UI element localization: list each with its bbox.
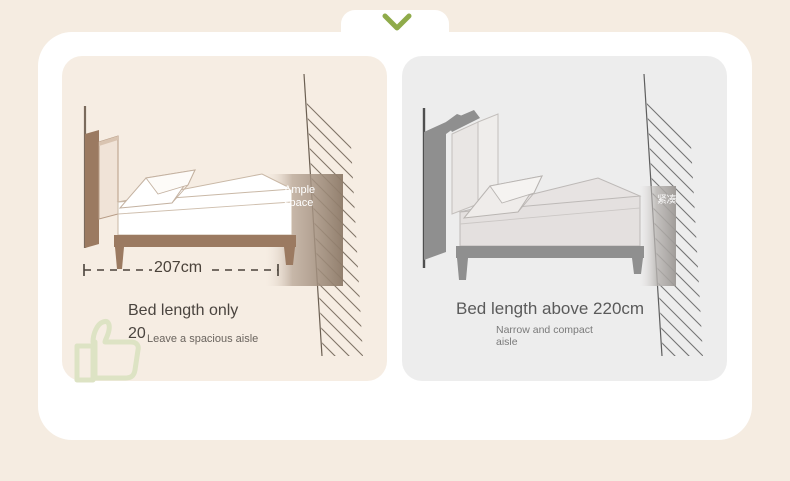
ample-space-line2: space: [284, 197, 344, 210]
ample-space-line1: Ample: [284, 184, 344, 197]
chevron-down-icon[interactable]: [381, 10, 413, 34]
caption-subtitle-right-line2: aisle: [496, 336, 636, 348]
caption-subtitle-left: Leave a spacious aisle: [147, 333, 258, 345]
dimension-value: 207cm: [154, 259, 202, 277]
caption-subtitle-right-line1: Narrow and compact: [496, 324, 636, 336]
compact-space-label: 紧凑: [657, 195, 689, 206]
caption-subtitle-right: Narrow and compact aisle: [496, 324, 636, 348]
ample-space-label: Ample space: [284, 184, 344, 210]
thumbs-up-icon: [73, 312, 151, 386]
caption-title-right: Bed length above 220cm: [456, 299, 644, 319]
page-root: 207cm Ample space Bed length only 20 Lea…: [0, 0, 790, 481]
